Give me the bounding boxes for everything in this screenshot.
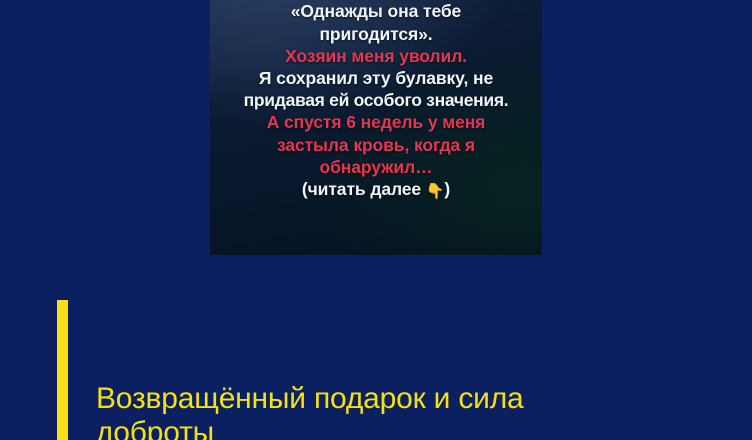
story-line-6: придавая ей особого значения. — [210, 89, 542, 111]
story-line-4-highlight: Хозяин меня уволил. — [210, 45, 542, 67]
story-read-more-line: (читать далее 👇) — [210, 178, 542, 200]
read-more-suffix: ) — [444, 179, 450, 199]
read-more-label: (читать далее — [302, 179, 426, 199]
story-line-5: Я сохранил эту булавку, не — [210, 67, 542, 89]
page-title: Возвращённый подарок и сила доброты — [96, 382, 716, 440]
page-root: дала мне шпильку и сказала: дала мне шпи… — [0, 0, 752, 440]
story-line-8-highlight: застыла кровь, когда я — [210, 134, 542, 156]
story-line-9-highlight: обнаружил… — [210, 156, 542, 178]
accent-bar — [57, 300, 68, 440]
story-image-card: дала мне шпильку и сказала: дала мне шпи… — [210, 0, 542, 255]
story-line-7-highlight: А спустя 6 недель у меня — [210, 111, 542, 133]
title-block: Возвращённый подарок и сила доброты — [96, 382, 716, 440]
story-line-3: пригодится». — [210, 23, 542, 45]
story-text-container: дала мне шпильку и сказала: дала мне шпи… — [210, 0, 542, 200]
story-line-2: «Однажды она тебе — [210, 0, 542, 22]
pointing-down-hand-icon: 👇 — [426, 184, 445, 199]
